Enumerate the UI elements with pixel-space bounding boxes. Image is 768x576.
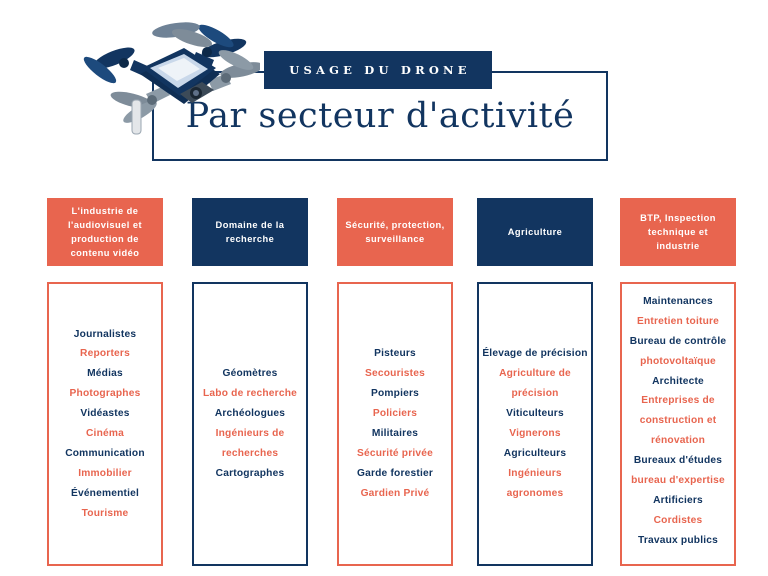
column-header-label: Agriculture <box>508 225 563 239</box>
column-header-audiovisuel: L'industrie de l'audiovisuel et producti… <box>47 198 163 266</box>
sector-columns: L'industrie de l'audiovisuel et producti… <box>0 198 768 568</box>
list-item: Sécurité privée <box>342 444 448 464</box>
list-item: Gardien Privé <box>342 484 448 504</box>
list-item: Labo de recherche <box>197 384 303 404</box>
column-header-securite: Sécurité, protection, surveillance <box>337 198 453 266</box>
list-item: Architecte <box>625 372 731 392</box>
list-item: Secouristes <box>342 364 448 384</box>
kicker-badge: USAGE DU DRONE <box>264 51 492 89</box>
list-item: Communication <box>52 444 158 464</box>
list-item: Archéologues <box>197 404 303 424</box>
list-item: Vignerons <box>482 424 588 444</box>
column-header-label: L'industrie de l'audiovisuel et producti… <box>53 204 157 261</box>
list-item: Élevage de précision <box>482 344 588 364</box>
list-item: photovoltaïque <box>625 352 731 372</box>
column-body-recherche: Géomètres Labo de recherche Archéologues… <box>192 282 308 566</box>
list-item: Immobilier <box>52 464 158 484</box>
list-item: Entreprises de construction et rénovatio… <box>625 391 731 451</box>
kicker-label: USAGE DU DRONE <box>285 63 470 77</box>
list-item: Pisteurs <box>342 344 448 364</box>
list-item: Cartographes <box>197 464 303 484</box>
list-item: Garde forestier <box>342 464 448 484</box>
list-item: Médias <box>52 364 158 384</box>
list-item: Ingénieurs agronomes <box>482 464 588 504</box>
list-item: Ingénieurs de recherches <box>197 424 303 464</box>
list-item: Tourisme <box>52 504 158 524</box>
sector-column-audiovisuel: L'industrie de l'audiovisuel et producti… <box>47 198 163 266</box>
list-item: Maintenances <box>625 292 731 312</box>
list-item: Militaires <box>342 424 448 444</box>
column-body-btp: Maintenances Entretien toiture Bureau de… <box>620 282 736 566</box>
column-header-label: Sécurité, protection, surveillance <box>343 218 447 246</box>
column-body-securite: Pisteurs Secouristes Pompiers Policiers … <box>337 282 453 566</box>
column-header-label: Domaine de la recherche <box>198 218 302 246</box>
list-item: Policiers <box>342 404 448 424</box>
list-item: Photographes <box>52 384 158 404</box>
list-item: Bureaux d'études <box>625 451 731 471</box>
sector-column-recherche: Domaine de la recherche Géomètres Labo d… <box>192 198 308 266</box>
list-item: Journalistes <box>52 325 158 345</box>
column-header-recherche: Domaine de la recherche <box>192 198 308 266</box>
column-body-agriculture: Élevage de précision Agriculture de préc… <box>477 282 593 566</box>
list-item: Bureau de contrôle <box>625 332 731 352</box>
list-item: Agriculteurs <box>482 444 588 464</box>
column-body-audiovisuel: Journalistes Reporters Médias Photograph… <box>47 282 163 566</box>
list-item: Agriculture de précision <box>482 364 588 404</box>
column-header-agriculture: Agriculture <box>477 198 593 266</box>
list-item: Reporters <box>52 344 158 364</box>
list-item: Pompiers <box>342 384 448 404</box>
list-item: Travaux publics <box>625 531 731 551</box>
column-header-btp: BTP, Inspection technique et industrie <box>620 198 736 266</box>
list-item: Viticulteurs <box>482 404 588 424</box>
sector-column-agriculture: Agriculture Élevage de précision Agricul… <box>477 198 593 266</box>
list-item: Artificiers <box>625 491 731 511</box>
list-item: Géomètres <box>197 364 303 384</box>
list-item: Vidéastes <box>52 404 158 424</box>
sector-column-securite: Sécurité, protection, surveillance Piste… <box>337 198 453 266</box>
drone-quadcopter-icon <box>74 8 260 140</box>
list-item: Entretien toiture <box>625 312 731 332</box>
list-item: Cordistes <box>625 511 731 531</box>
list-item: Événementiel <box>52 484 158 504</box>
list-item: bureau d'expertise <box>625 471 731 491</box>
sector-column-btp: BTP, Inspection technique et industrie M… <box>620 198 736 266</box>
list-item: Cinéma <box>52 424 158 444</box>
column-header-label: BTP, Inspection technique et industrie <box>626 211 730 253</box>
